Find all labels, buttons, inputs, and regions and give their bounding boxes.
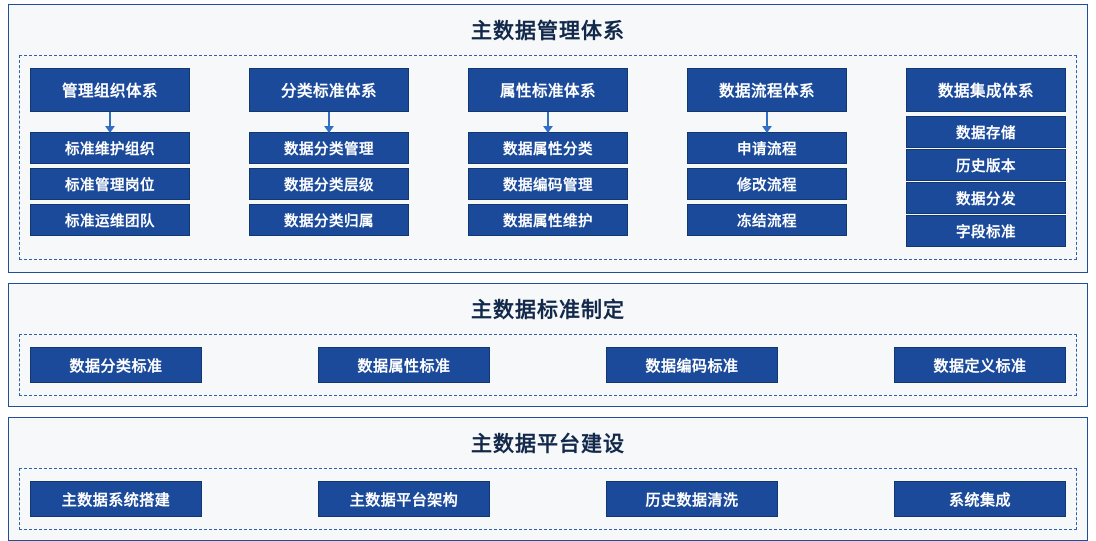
- box-standard-item-1[interactable]: 数据分类标准: [30, 347, 202, 383]
- box-attribute-head[interactable]: 属性标准体系: [468, 68, 628, 112]
- box-platform-item-4[interactable]: 系统集成: [894, 481, 1066, 517]
- standard-row: 数据分类标准 数据属性标准 数据编码标准 数据定义标准: [30, 347, 1066, 383]
- box-classification-item-3[interactable]: 数据分类归属: [249, 204, 409, 236]
- box-attribute-item-3[interactable]: 数据属性维护: [468, 204, 628, 236]
- box-process-head[interactable]: 数据流程体系: [687, 68, 847, 112]
- panel-title-standard: 主数据标准制定: [19, 294, 1077, 324]
- box-integration-item-4[interactable]: 字段标准: [906, 215, 1066, 247]
- diagram-root: 主数据管理体系 管理组织体系 标准维护组织 标准管理岗位 标准运维团队 分类标准…: [0, 0, 1096, 528]
- panel-platform-construction: 主数据平台建设 主数据系统搭建 主数据平台架构 历史数据清洗 系统集成: [8, 417, 1088, 541]
- box-integration-item-3[interactable]: 数据分发: [906, 182, 1066, 214]
- box-integration-head[interactable]: 数据集成体系: [906, 68, 1066, 112]
- arrow-down-icon: [766, 112, 768, 132]
- arrow-down-icon: [109, 112, 111, 132]
- box-standard-item-3[interactable]: 数据编码标准: [606, 347, 778, 383]
- box-classification-head[interactable]: 分类标准体系: [249, 68, 409, 112]
- panel-title-management: 主数据管理体系: [19, 15, 1077, 45]
- column-organization: 管理组织体系 标准维护组织 标准管理岗位 标准运维团队: [30, 68, 190, 236]
- box-platform-item-3[interactable]: 历史数据清洗: [606, 481, 778, 517]
- box-standard-item-2[interactable]: 数据属性标准: [318, 347, 490, 383]
- arrow-down-icon: [547, 112, 549, 132]
- management-columns: 管理组织体系 标准维护组织 标准管理岗位 标准运维团队 分类标准体系 数据分类管…: [30, 68, 1066, 247]
- box-attribute-item-2[interactable]: 数据编码管理: [468, 168, 628, 200]
- box-integration-item-1[interactable]: 数据存储: [906, 116, 1066, 148]
- box-process-item-3[interactable]: 冻结流程: [687, 204, 847, 236]
- box-integration-item-2[interactable]: 历史版本: [906, 149, 1066, 181]
- dashed-group-management: 管理组织体系 标准维护组织 标准管理岗位 标准运维团队 分类标准体系 数据分类管…: [19, 55, 1077, 260]
- box-process-item-1[interactable]: 申请流程: [687, 132, 847, 164]
- box-process-item-2[interactable]: 修改流程: [687, 168, 847, 200]
- box-standard-item-4[interactable]: 数据定义标准: [894, 347, 1066, 383]
- box-classification-item-1[interactable]: 数据分类管理: [249, 132, 409, 164]
- box-organization-item-2[interactable]: 标准管理岗位: [30, 168, 190, 200]
- box-platform-item-1[interactable]: 主数据系统搭建: [30, 481, 202, 517]
- dashed-group-platform: 主数据系统搭建 主数据平台架构 历史数据清洗 系统集成: [19, 468, 1077, 530]
- column-process: 数据流程体系 申请流程 修改流程 冻结流程: [687, 68, 847, 236]
- platform-row: 主数据系统搭建 主数据平台架构 历史数据清洗 系统集成: [30, 481, 1066, 517]
- column-attribute: 属性标准体系 数据属性分类 数据编码管理 数据属性维护: [468, 68, 628, 236]
- box-organization-head[interactable]: 管理组织体系: [30, 68, 190, 112]
- box-classification-item-2[interactable]: 数据分类层级: [249, 168, 409, 200]
- box-organization-item-3[interactable]: 标准运维团队: [30, 204, 190, 236]
- box-organization-item-1[interactable]: 标准维护组织: [30, 132, 190, 164]
- dashed-group-standard: 数据分类标准 数据属性标准 数据编码标准 数据定义标准: [19, 334, 1077, 396]
- panel-master-data-management: 主数据管理体系 管理组织体系 标准维护组织 标准管理岗位 标准运维团队 分类标准…: [8, 4, 1088, 273]
- column-classification: 分类标准体系 数据分类管理 数据分类层级 数据分类归属: [249, 68, 409, 236]
- box-platform-item-2[interactable]: 主数据平台架构: [318, 481, 490, 517]
- column-integration: 数据集成体系 数据存储 历史版本 数据分发 字段标准: [906, 68, 1066, 247]
- panel-standard-definition: 主数据标准制定 数据分类标准 数据属性标准 数据编码标准 数据定义标准: [8, 283, 1088, 407]
- arrow-down-icon: [328, 112, 330, 132]
- box-attribute-item-1[interactable]: 数据属性分类: [468, 132, 628, 164]
- panel-title-platform: 主数据平台建设: [19, 428, 1077, 458]
